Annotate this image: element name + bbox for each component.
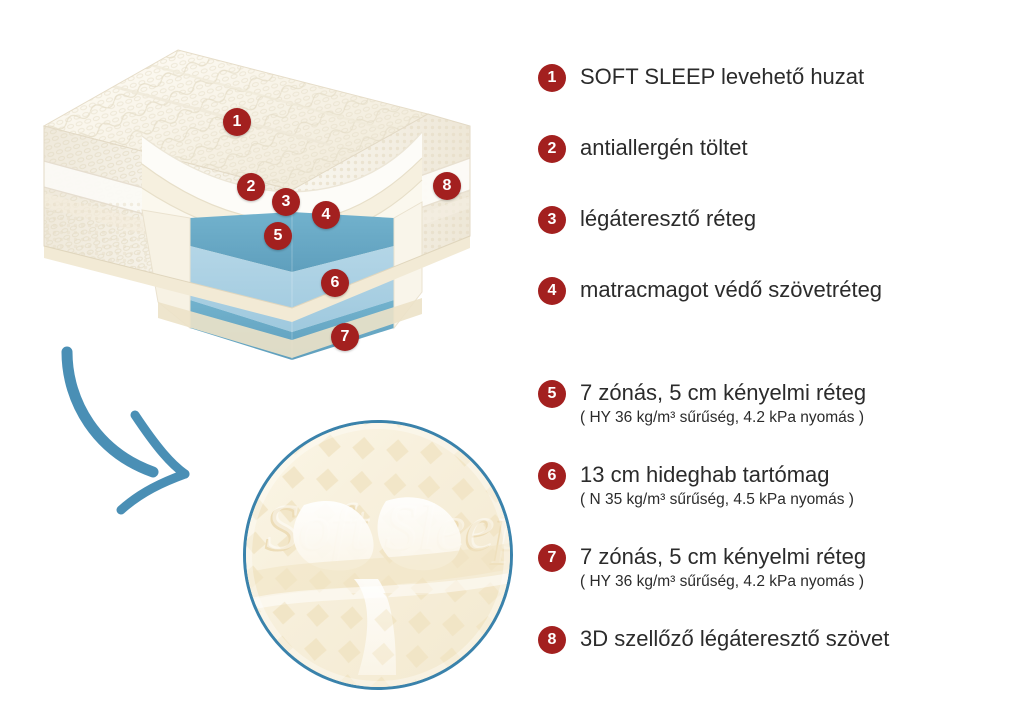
callout-badge-2: 2 xyxy=(237,173,265,201)
mattress-cutaway-illustration: 1 2 3 4 5 6 7 8 xyxy=(30,40,500,370)
spec-label-2: antiallergén töltet xyxy=(580,133,748,163)
fabric-closeup-circle: Soft Sleep Soft Sleep xyxy=(243,420,513,690)
curved-arrow xyxy=(45,340,235,520)
spec-badge-8: 8 xyxy=(538,626,566,654)
spec-label-5: 7 zónás, 5 cm kényelmi réteg xyxy=(580,378,866,408)
spec-label-4: matracmagot védő szövetréteg xyxy=(580,275,882,305)
spec-label-3: légáteresztő réteg xyxy=(580,204,756,234)
spec-badge-5: 5 xyxy=(538,380,566,408)
spec-badge-2: 2 xyxy=(538,135,566,163)
spec-sub-6: ( N 35 kg/m³ sűrűség, 4.5 kPa nyomás ) xyxy=(580,489,854,511)
callout-badge-7: 7 xyxy=(331,323,359,351)
callout-badge-1: 1 xyxy=(223,108,251,136)
spec-label-8: 3D szellőző légáteresztő szövet xyxy=(580,624,889,654)
callout-badge-5: 5 xyxy=(264,222,292,250)
callout-badge-3: 3 xyxy=(272,188,300,216)
spec-label-6: 13 cm hideghab tartómag xyxy=(580,460,830,490)
spec-sub-5: ( HY 36 kg/m³ sűrűség, 4.2 kPa nyomás ) xyxy=(580,407,864,429)
spec-badge-1: 1 xyxy=(538,64,566,92)
spec-label-7: 7 zónás, 5 cm kényelmi réteg xyxy=(580,542,866,572)
layer-spec-list: 1 SOFT SLEEP levehető huzat 2 antiallerg… xyxy=(534,50,1004,690)
spec-sub-7: ( HY 36 kg/m³ sűrűség, 4.2 kPa nyomás ) xyxy=(580,571,864,593)
spec-badge-4: 4 xyxy=(538,277,566,305)
callout-badge-4: 4 xyxy=(312,201,340,229)
spec-badge-3: 3 xyxy=(538,206,566,234)
spec-badge-6: 6 xyxy=(538,462,566,490)
callout-badge-6: 6 xyxy=(321,269,349,297)
spec-badge-7: 7 xyxy=(538,544,566,572)
infographic-stage: 1 2 3 4 5 6 7 8 xyxy=(0,0,1024,724)
spec-label-1: SOFT SLEEP levehető huzat xyxy=(580,62,864,92)
callout-badge-8: 8 xyxy=(433,172,461,200)
